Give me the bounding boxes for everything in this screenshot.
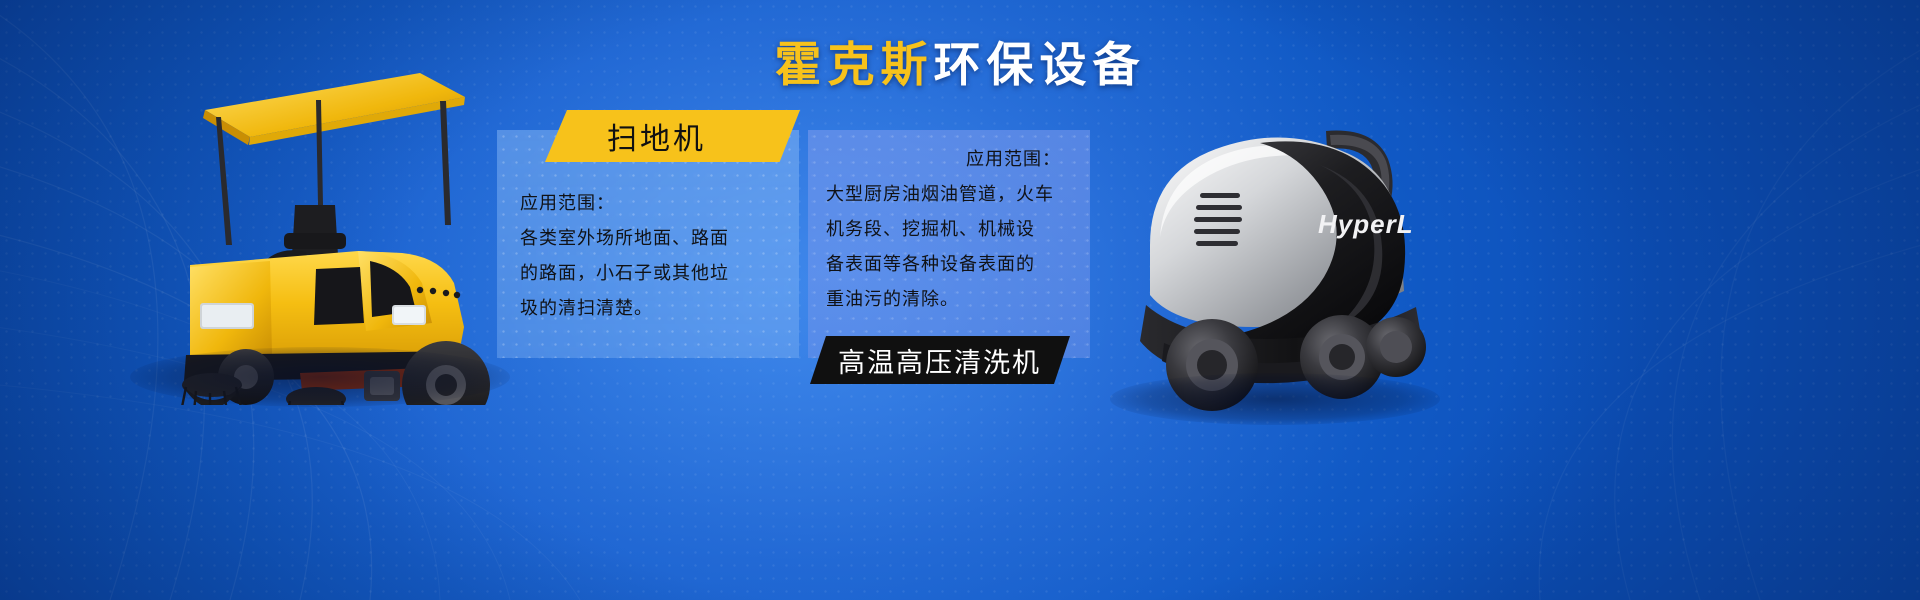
title-category: 环保设备 xyxy=(934,38,1146,91)
sweeper-line-1: 各类室外场所地面、路面 xyxy=(520,221,782,256)
sweeper-line-3: 圾的清扫清楚。 xyxy=(520,291,782,326)
sweeper-line-2: 的路面，小石子或其他垃 xyxy=(520,256,782,291)
pressure-washer-image: HyperL xyxy=(1090,95,1460,425)
sweeper-heading: 应用范围： xyxy=(520,186,782,221)
product-tag-sweeper-label: 扫地机 xyxy=(607,114,706,158)
washer-line-2: 机务段、挖掘机、机械设 xyxy=(826,212,1076,247)
svg-text:HyperL: HyperL xyxy=(1318,209,1414,239)
product-tag-washer-label: 高温高压清洗机 xyxy=(838,341,1041,380)
sweeper-description-text: 应用范围： 各类室外场所地面、路面 的路面，小石子或其他垃 圾的清扫清楚。 xyxy=(520,186,782,326)
product-tag-washer[interactable]: 高温高压清洗机 xyxy=(810,336,1070,384)
product-tag-sweeper[interactable]: 扫地机 xyxy=(545,110,800,162)
washer-description-text: 应用范围： 大型厨房油烟油管道，火车 机务段、挖掘机、机械设 备表面等各种设备表… xyxy=(826,142,1076,317)
washer-line-4: 重油污的清除。 xyxy=(826,282,1076,317)
promo-banner: HyperL 霍克斯环保设备 扫地机 应用范围： 各类室外场所地面、路面 xyxy=(0,0,1920,600)
washer-line-1: 大型厨房油烟油管道，火车 xyxy=(826,177,1076,212)
sweeper-image xyxy=(120,55,520,405)
title-brand: 霍克斯 xyxy=(775,38,934,91)
banner-title: 霍克斯环保设备 xyxy=(0,26,1920,95)
washer-heading: 应用范围： xyxy=(966,142,1076,177)
washer-line-3: 备表面等各种设备表面的 xyxy=(826,247,1076,282)
